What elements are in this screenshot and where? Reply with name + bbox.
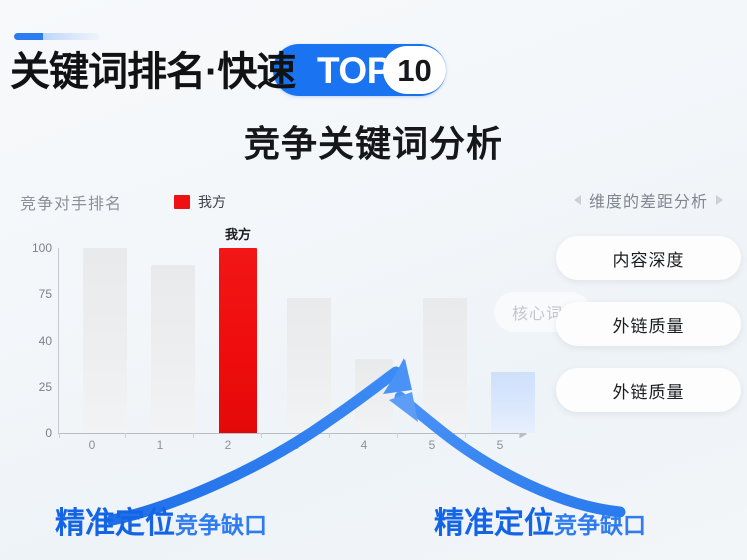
caption-left-small: 竞争缺口 xyxy=(175,506,267,540)
table-row-highlighted xyxy=(491,372,535,433)
table-row xyxy=(355,359,393,433)
x-axis: 0 1 2 3 4 5 5 xyxy=(59,438,519,460)
x-tick-1: 1 xyxy=(157,438,164,452)
caption-left-big: 精准定位 xyxy=(55,498,175,542)
chart-axis-title: 竞争对手排名 xyxy=(20,190,122,214)
list-item[interactable]: 外链质量 xyxy=(556,302,741,346)
progress-bar-decoration xyxy=(14,33,100,40)
table-row xyxy=(287,298,331,433)
legend-swatch-icon xyxy=(174,195,190,209)
bar-annotation-ours: 我方 xyxy=(225,224,251,243)
y-tick-25: 25 xyxy=(39,380,52,394)
y-tick-100: 100 xyxy=(32,241,52,255)
dimension-gap-title: 维度的差距分析 xyxy=(589,188,708,212)
caption-right: 精准定位 竞争缺口 xyxy=(434,498,646,542)
bar-chart: 竞争对手排名 我方 100 75 40 25 0 xyxy=(8,190,548,480)
y-tick-75: 75 xyxy=(39,287,52,301)
chart-bars: 我方 xyxy=(59,248,519,433)
caption-right-small: 竞争缺口 xyxy=(554,506,646,540)
dimension-gap-panel: 维度的差距分析 内容深度 外链质量 外链质量 xyxy=(556,188,741,434)
table-row xyxy=(151,265,195,433)
chart-legend: 竞争对手排名 我方 xyxy=(20,190,226,214)
chevron-left-icon xyxy=(574,195,581,205)
chart-plot-area: 100 75 40 25 0 我方 xyxy=(20,248,540,448)
dimension-gap-header: 维度的差距分析 xyxy=(556,188,741,212)
x-axis-line xyxy=(58,433,526,434)
x-tick-5: 5 xyxy=(429,438,436,452)
x-tick-2: 2 xyxy=(225,438,232,452)
y-tick-40: 40 xyxy=(39,334,52,348)
x-tick-6: 5 xyxy=(497,438,504,452)
x-tick-4: 4 xyxy=(361,438,368,452)
y-tick-0: 0 xyxy=(45,426,52,440)
slide-canvas: TOP 10 关键词排名·快速 竞争关键词分析 竞争对手排名 我方 100 75… xyxy=(0,0,747,560)
headline: 关键词排名·快速 xyxy=(10,44,295,100)
chevron-right-icon xyxy=(716,195,723,205)
table-row xyxy=(83,248,127,433)
top-badge-number-chip: 10 xyxy=(383,46,446,94)
legend-item-ours: 我方 xyxy=(174,192,226,212)
table-row xyxy=(219,248,257,433)
page-subtitle: 竞争关键词分析 xyxy=(0,115,747,167)
y-axis: 100 75 40 25 0 xyxy=(20,248,58,433)
headline-text: 关键词排名·快速 xyxy=(10,52,295,92)
caption-left: 精准定位 竞争缺口 xyxy=(55,498,267,542)
list-item[interactable]: 外链质量 xyxy=(556,368,741,412)
top-badge-number: 10 xyxy=(397,55,431,86)
caption-right-big: 精准定位 xyxy=(434,498,554,542)
x-tick-0: 0 xyxy=(89,438,96,452)
top-badge-word: TOP xyxy=(317,52,391,89)
table-row xyxy=(423,298,467,433)
list-item[interactable]: 内容深度 xyxy=(556,236,741,280)
legend-label-ours: 我方 xyxy=(198,192,226,212)
x-tick-3: 3 xyxy=(293,438,300,452)
